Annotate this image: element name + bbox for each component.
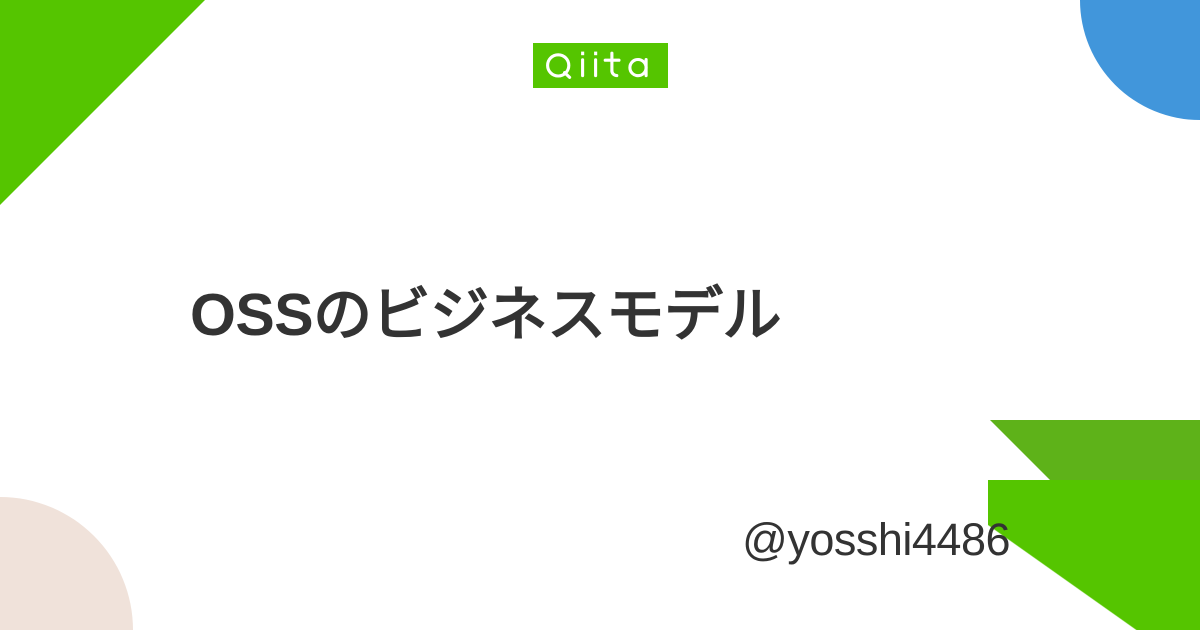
card-content: OSSのビジネスモデル [0,0,1200,630]
author-row: @yosshi4486 [742,515,1010,565]
author-handle: @yosshi4486 [742,515,1010,565]
article-title: OSSのビジネスモデル [190,275,1010,355]
qiita-ogp-card: OSSのビジネスモデル @yosshi4486 [0,0,1200,630]
